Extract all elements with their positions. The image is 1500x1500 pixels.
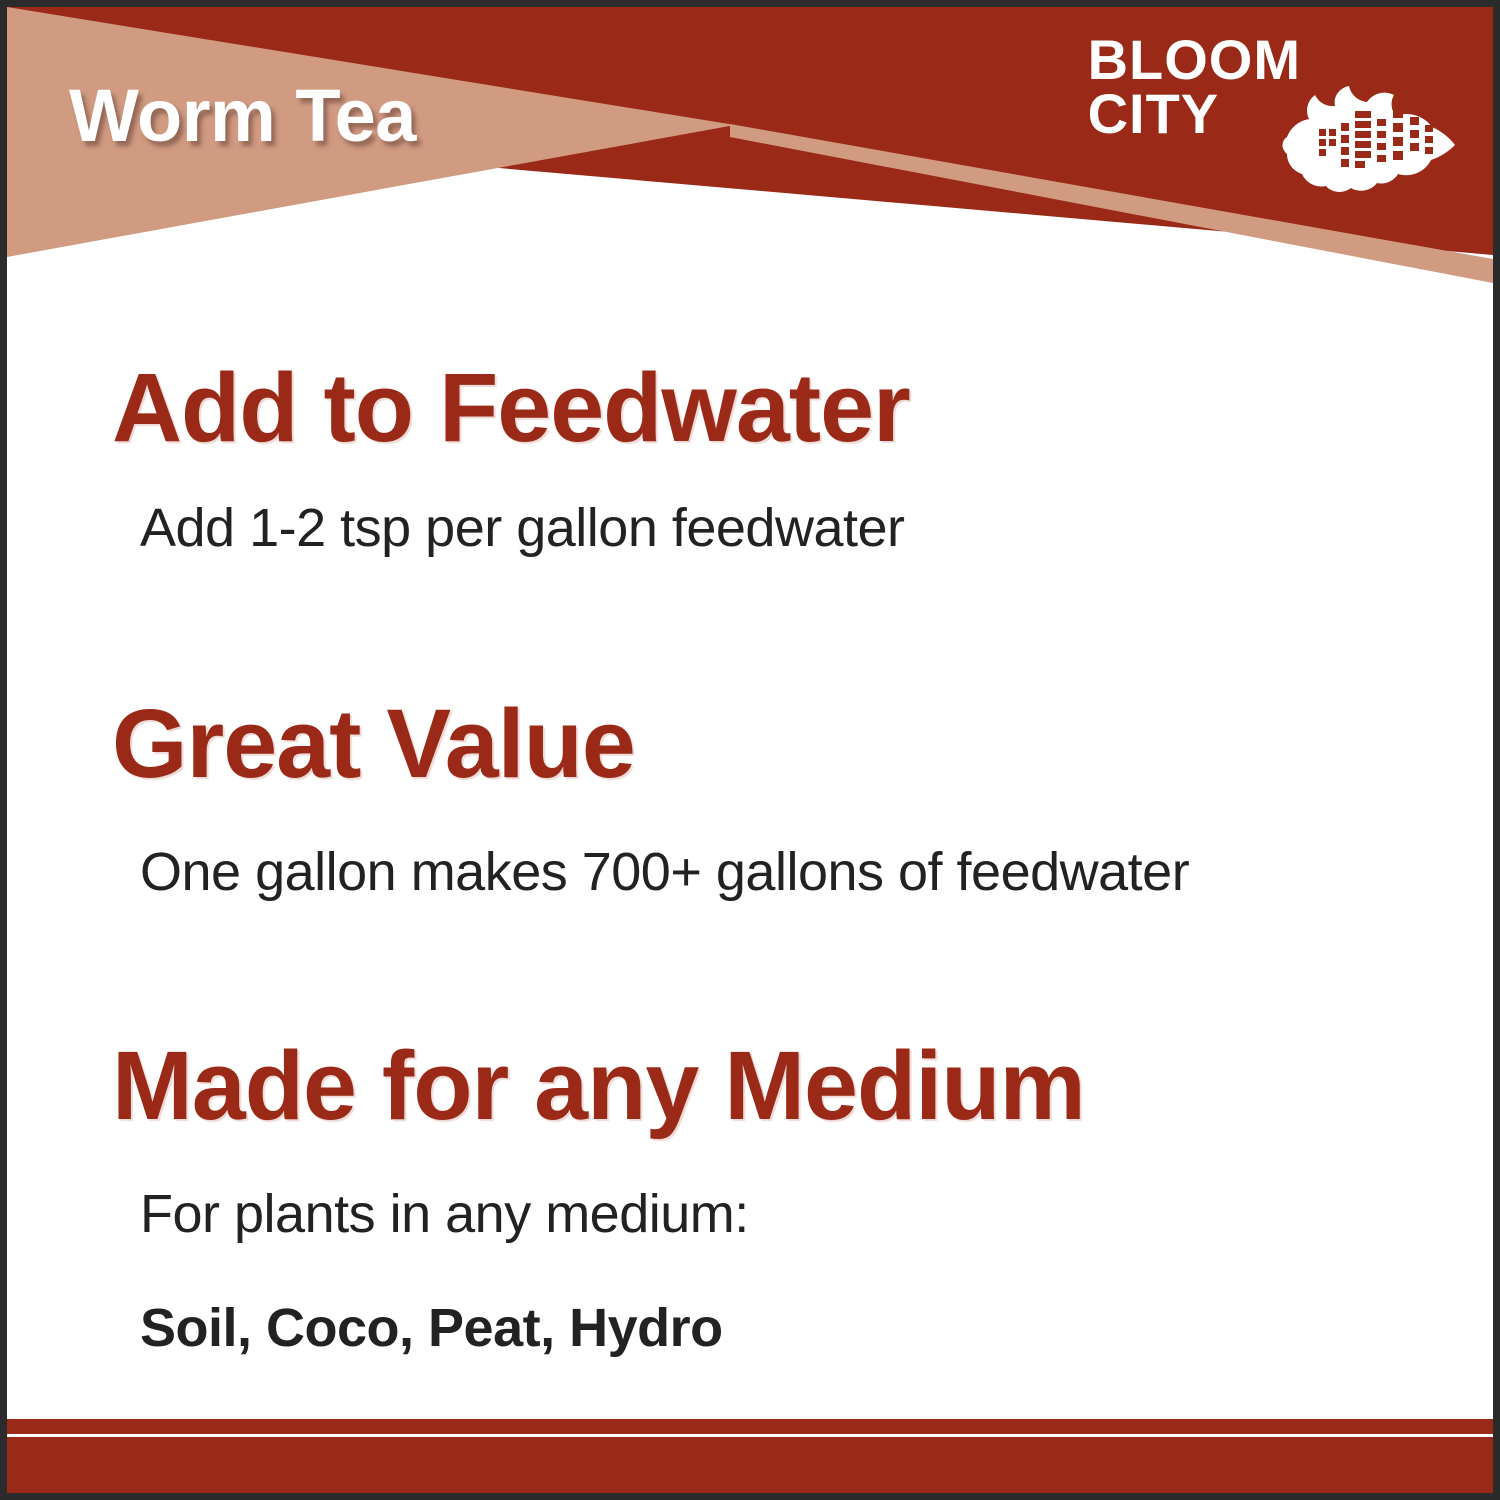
feature-section-value: Great Value One gallon makes 700+ gallon… (112, 695, 1453, 906)
brand-wordmark-line-2: CITY (1088, 87, 1301, 141)
feature-heading: Add to Feedwater (112, 359, 1453, 456)
product-infographic-card: Worm Tea BLOOM CITY (0, 0, 1500, 1500)
product-title: Worm Tea (69, 73, 416, 158)
footer-stripe-thin (7, 1419, 1493, 1434)
feature-body: One gallon makes 700+ gallons of feedwat… (112, 838, 1453, 906)
footer-stripe-thick (7, 1437, 1493, 1493)
feature-body: Add 1-2 tsp per gallon feedwater (112, 494, 1453, 562)
feature-body-mediums: Soil, Coco, Peat, Hydro (112, 1294, 1453, 1362)
leaf-city-logo-icon (1277, 75, 1457, 200)
feature-section-medium: Made for any Medium For plants in any me… (112, 1037, 1453, 1362)
feature-heading: Made for any Medium (112, 1037, 1453, 1134)
feature-section-feedwater: Add to Feedwater Add 1-2 tsp per gallon … (112, 359, 1453, 562)
brand-logo: BLOOM CITY (1088, 29, 1457, 200)
feature-body: For plants in any medium: (112, 1180, 1453, 1248)
feature-heading: Great Value (112, 695, 1453, 792)
brand-wordmark: BLOOM CITY (1088, 29, 1301, 141)
